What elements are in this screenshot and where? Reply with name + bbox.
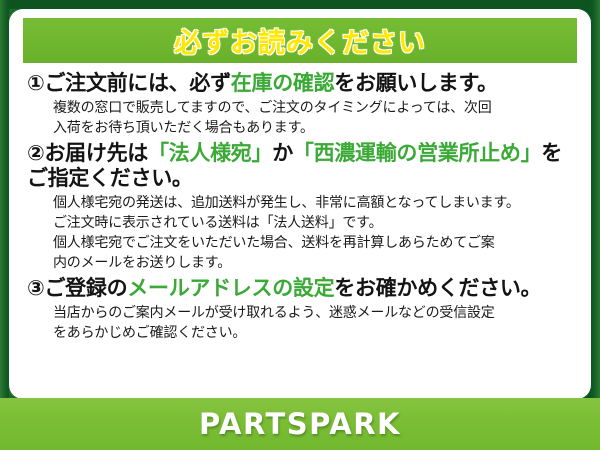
notice-item-3-heading-highlight: メールアドレスの設定: [127, 276, 334, 300]
page-title: 必ずお読みください: [174, 21, 426, 60]
notice-item-1: ①ご注文前には、必ず在庫の確認をお願いします。 複数の窓口で販売してますので、ご…: [27, 71, 575, 138]
notice-item-2-heading-highlight-2: 「西濃運輸の営業所止め」: [293, 141, 541, 165]
notice-item-1-body-line-2: 入荷をお待ち頂いただく場合もあります。: [53, 118, 575, 138]
notice-item-1-heading: ①ご注文前には、必ず在庫の確認をお願いします。: [27, 71, 575, 97]
notice-item-2-heading: ②お届け先は「法人様宛」か「西濃運輸の営業所止め」をご指定ください。: [27, 141, 575, 192]
notice-item-1-body: 複数の窓口で販売してますので、ご注文のタイミングによっては、次回 入荷をお待ち頂…: [53, 98, 575, 138]
notice-item-1-heading-part-1: ご注文前には、必ず: [44, 71, 230, 95]
notice-item-3-body-line-2: をあらかじめご確認ください。: [53, 323, 575, 343]
notice-item-3-body: 当店からのご案内メールが受け取れるよう、迷惑メールなどの受信設定 をあらかじめご…: [53, 303, 575, 343]
frame-top-border: [0, 0, 600, 9]
notice-item-2-heading-part-1: お届け先は: [44, 141, 148, 165]
notice-item-2-number: ②: [27, 141, 44, 165]
frame-left-border: [0, 0, 9, 450]
notice-item-1-heading-highlight: 在庫の確認: [231, 71, 335, 95]
frame-right-border: [591, 0, 600, 450]
notice-item-2-body: 個人様宅宛の発送は、追加送料が発生し、非常に高額となってしまいます。 ご注文時に…: [53, 193, 575, 273]
footer-band: PARTSPARK: [0, 398, 600, 450]
notice-item-2: ②お届け先は「法人様宛」か「西濃運輸の営業所止め」をご指定ください。 個人様宅宛…: [27, 141, 575, 273]
notice-item-2-body-line-1: 個人様宅宛の発送は、追加送料が発生し、非常に高額となってしまいます。: [53, 193, 575, 213]
notice-item-2-body-line-2: ご注文時に表示されている送料は「法人送料」です。: [53, 213, 575, 233]
notice-item-1-heading-part-3: をお願いします。: [334, 71, 498, 95]
notice-item-1-body-line-1: 複数の窓口で販売してますので、ご注文のタイミングによっては、次回: [53, 98, 575, 118]
header-band: 必ずお読みください: [23, 18, 577, 63]
notice-item-3-body-line-1: 当店からのご案内メールが受け取れるよう、迷惑メールなどの受信設定: [53, 303, 575, 323]
notice-item-2-body-line-3: 個人様宅宛でご注文をいただいた場合、送料を再計算しあらためてご案: [53, 233, 575, 253]
notice-banner: 必ずお読みください ①ご注文前には、必ず在庫の確認をお願いします。 複数の窓口で…: [0, 0, 600, 450]
notice-card: 必ずお読みください ①ご注文前には、必ず在庫の確認をお願いします。 複数の窓口で…: [9, 9, 591, 399]
notice-item-2-body-line-4: 内のメールをお送りします。: [53, 253, 575, 273]
notice-item-3-heading: ③ご登録のメールアドレスの設定をお確かめください。: [27, 276, 575, 302]
notice-item-2-heading-highlight-1: 「法人様宛」: [148, 141, 272, 165]
notice-item-2-heading-part-3: か: [272, 141, 293, 165]
notice-item-3-number: ③: [27, 276, 44, 300]
notice-item-3: ③ご登録のメールアドレスの設定をお確かめください。 当店からのご案内メールが受け…: [27, 276, 575, 343]
brand-logo: PARTSPARK: [199, 407, 401, 441]
notice-item-3-heading-part-1: ご登録の: [44, 276, 127, 300]
notice-item-1-number: ①: [27, 71, 44, 95]
notice-item-3-heading-part-3: をお確かめください。: [334, 276, 541, 300]
notice-content: ①ご注文前には、必ず在庫の確認をお願いします。 複数の窓口で販売してますので、ご…: [23, 63, 577, 343]
